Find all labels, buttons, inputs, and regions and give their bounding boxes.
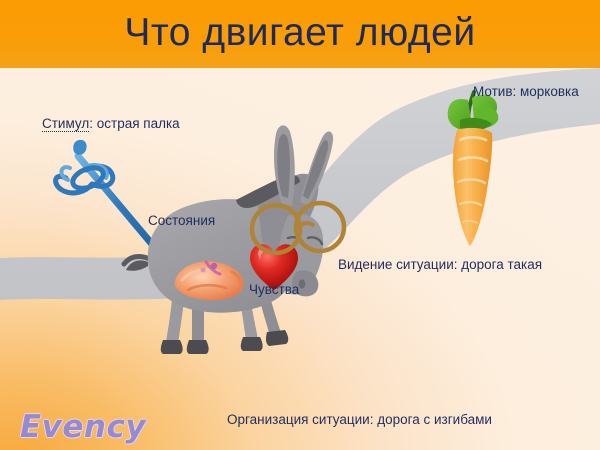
donkey-illustration (124, 125, 344, 354)
illustration-layer (0, 0, 600, 450)
label-videnie-text: Видение ситуации: дорога такая (338, 257, 542, 272)
label-videnie-situacii: Видение ситуации: дорога такая (338, 256, 542, 273)
label-sostoyaniya: Состояния (148, 212, 215, 229)
carrot-icon (448, 92, 499, 246)
watermark-logo: Evency (20, 409, 146, 445)
label-organizaciya-text: Организация ситуации: дорога с изгибами (227, 412, 492, 427)
label-motiv: Мотив: морковка (473, 83, 579, 100)
label-chuvstva-text: Чувства (249, 282, 299, 297)
donkey-nostril (299, 279, 306, 288)
donkey-ears (274, 125, 333, 206)
label-stimul-rest: : острая палка (89, 116, 179, 131)
label-stimul: Стимул: острая палка (42, 115, 180, 132)
label-stimul-keyword: Стимул (42, 116, 89, 132)
label-organizaciya-situacii: Организация ситуации: дорога с изгибами (227, 411, 492, 428)
label-chuvstva: Чувства (249, 281, 299, 298)
label-motiv-text: Мотив: морковка (473, 84, 579, 99)
label-sostoyaniya-text: Состояния (148, 213, 215, 228)
slide-root: Что двигает людей (0, 0, 600, 450)
donkey-tail (124, 257, 152, 271)
